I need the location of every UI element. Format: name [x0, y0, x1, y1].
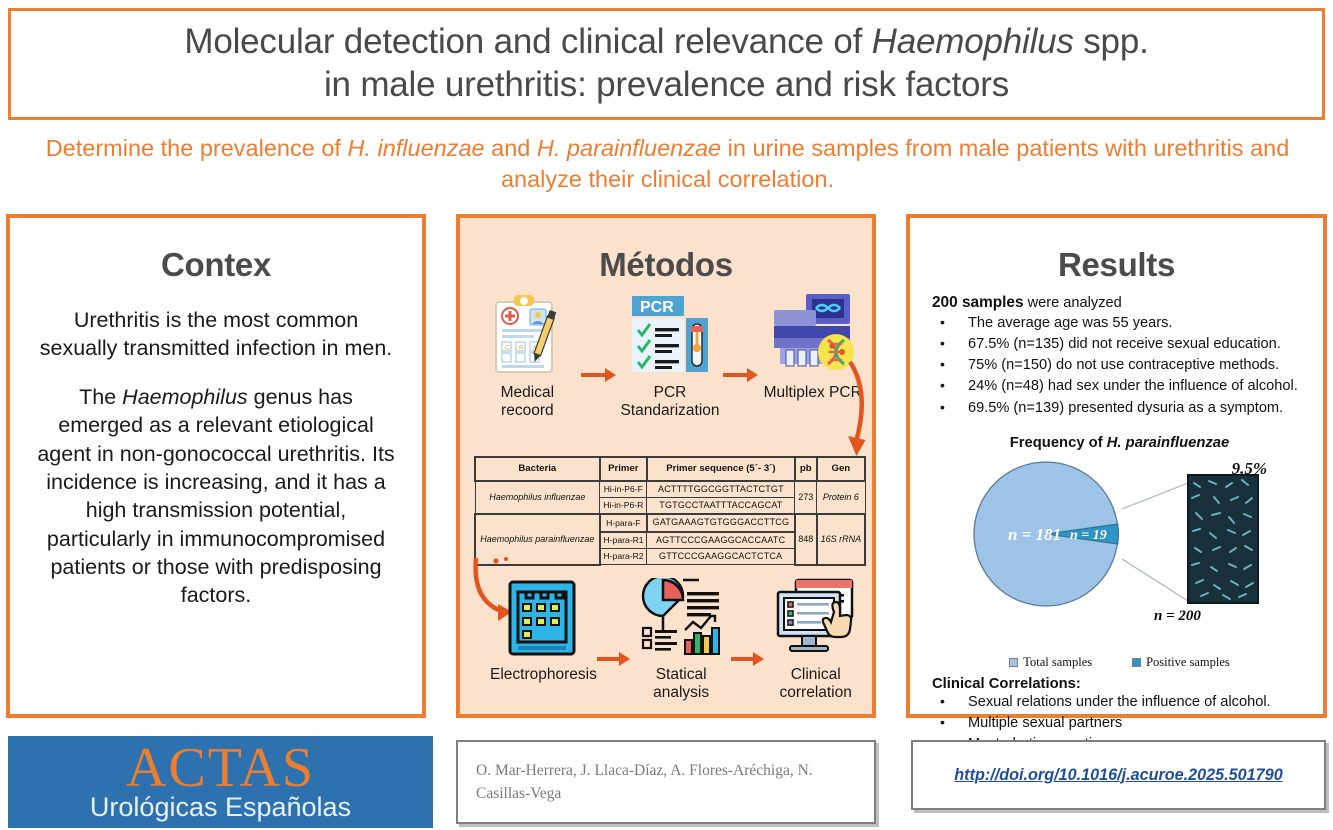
- svg-text:PCR: PCR: [640, 299, 674, 316]
- svg-text:C: C: [505, 346, 510, 352]
- cell-gen-16s: 16S rRNA: [817, 514, 865, 564]
- legend-swatch-positive: [1132, 658, 1141, 667]
- poster-root: Molecular detection and clinical relevan…: [0, 0, 1333, 830]
- arrow-2-icon: [723, 367, 759, 383]
- cell-sequence: AGTTCCCGAAGGCACCAATC: [647, 532, 795, 549]
- contex-p2-b: genus has emerged as a relevant etiologi…: [37, 385, 394, 608]
- pie-chart-legend: Total samples Positive samples: [932, 655, 1307, 670]
- metodos-panel: Métodos: [456, 214, 876, 718]
- pie-total-label: n = 200: [1154, 608, 1201, 625]
- title-box: Molecular detection and clinical relevan…: [8, 8, 1325, 120]
- step-electrophoresis: Electrophoresis: [490, 578, 597, 684]
- list-item: 67.5% (n=135) did not receive sexual edu…: [932, 334, 1307, 355]
- table-row: Haemophilus parainfluenzae H-para-F GATG…: [475, 514, 865, 531]
- list-item: Sexual relations under the influence of …: [932, 692, 1307, 713]
- cell-sequence: GATGAAAGTGTGGGACCTTCG: [647, 514, 795, 531]
- arrow-1-icon: [581, 367, 617, 383]
- primer-table-header-row: Bacteria Primer Primer sequence (5´- 3´)…: [475, 457, 865, 481]
- results-body: 200 samples were analyzed The average ag…: [910, 284, 1323, 755]
- results-heading: Results: [910, 246, 1323, 284]
- step-clinical-correlation-caption: Clinicalcorrelation: [780, 666, 852, 703]
- list-item: 75% (n=150) do not use contraceptive met…: [932, 355, 1307, 376]
- list-item: Multiple sexual partners: [932, 713, 1307, 734]
- callout-line-top: [1122, 483, 1188, 509]
- objective-statement: Determine the prevalence of H. influenza…: [40, 133, 1295, 196]
- primer-table: Bacteria Primer Primer sequence (5´- 3´)…: [474, 456, 866, 566]
- cell-primer: Hi-in-P6-R: [600, 498, 647, 515]
- th-gen: Gen: [817, 457, 865, 481]
- arrow-4-icon: [731, 651, 765, 667]
- bacilli-micrograph: [1188, 475, 1258, 603]
- title-line1-part-a: Molecular detection and clinical relevan…: [184, 22, 871, 61]
- legend-label-positive: Positive samples: [1146, 655, 1230, 669]
- th-sequence: Primer sequence (5´- 3´): [647, 457, 795, 481]
- callout-line-bottom: [1122, 559, 1188, 601]
- electrophoresis-gel-icon: [504, 578, 582, 660]
- pie-chart-svg: n = 181 n = 19: [926, 453, 1315, 635]
- cell-sequence: GTTCCCGAAGGCACTCTCA: [647, 548, 795, 564]
- cell-pb-273: 273: [795, 481, 817, 515]
- cell-sequence: ACTTTTGGCGGTTACTCTGT: [647, 481, 795, 498]
- pie-total-label-text: n = 200: [1154, 608, 1201, 624]
- pie-label-positive: n = 19: [1070, 528, 1107, 543]
- results-panel: Results 200 samples were analyzed The av…: [906, 214, 1327, 718]
- results-lead-rest: were analyzed: [1024, 295, 1122, 311]
- contex-p2-genus: Haemophilus: [122, 385, 247, 409]
- clipboard-medical-record-icon: C R A: [490, 292, 564, 378]
- objective-species-2: H. parainfluenzae: [537, 135, 721, 161]
- metodos-heading: Métodos: [460, 246, 872, 284]
- pie-callout-percent: 9.5%: [1232, 459, 1267, 479]
- metodos-workflow-top: C R A Medicalrecoord: [474, 292, 866, 421]
- contex-p2-a: The: [79, 385, 122, 409]
- pcr-checklist-icon: PCR: [628, 292, 712, 378]
- legend-label-total: Total samples: [1023, 655, 1092, 669]
- objective-species-1: H. influenzae: [347, 135, 484, 161]
- clinical-correlations-heading: Clinical Correlations:: [932, 676, 1307, 692]
- pie-chart-title-a: Frequency of: [1010, 435, 1107, 451]
- contex-heading: Contex: [10, 246, 422, 284]
- authors-box: O. Mar-Herrera, J. Llaca-Díaz, A. Flores…: [456, 740, 876, 824]
- legend-item-total: Total samples: [1009, 655, 1092, 670]
- authors-list: O. Mar-Herrera, J. Llaca-Díaz, A. Flores…: [476, 759, 856, 806]
- cell-primer: H-para-F: [600, 514, 647, 531]
- step-statistical-analysis: Statical analysis: [631, 578, 732, 703]
- page-title: Molecular detection and clinical relevan…: [172, 21, 1160, 106]
- results-lead: 200 samples were analyzed: [932, 294, 1307, 312]
- th-bacteria: Bacteria: [475, 457, 600, 481]
- title-line1-part-b: spp.: [1074, 22, 1149, 61]
- legend-swatch-total: [1009, 658, 1018, 667]
- doi-box: http://doi.org/10.1016/j.acuroe.2025.501…: [911, 740, 1326, 810]
- objective-part-1: Determine the prevalence of: [46, 135, 348, 161]
- title-genus-italic: Haemophilus: [872, 22, 1074, 61]
- cell-bacteria-hi: Haemophilus influenzae: [475, 481, 600, 515]
- contex-body: Urethritis is the most common sexually t…: [10, 284, 422, 610]
- results-sample-count: 200 samples: [932, 294, 1024, 311]
- logo-subtitle-text: Urológicas Españolas: [90, 794, 351, 821]
- title-line2: in male urethritis: prevalence and risk …: [324, 65, 1009, 104]
- contex-paragraph-1: Urethritis is the most common sexually t…: [36, 306, 396, 363]
- monitor-clinical-icon: [774, 578, 858, 660]
- arrow-3-icon: [597, 651, 631, 667]
- metodos-workflow-bottom: Electrophoresis: [490, 578, 866, 703]
- step-clinical-correlation: Clinicalcorrelation: [765, 578, 866, 703]
- svg-text:R: R: [519, 346, 524, 352]
- pie-chart-title-species: H. parainfluenzae: [1107, 435, 1230, 451]
- contex-panel: Contex Urethritis is the most common sex…: [6, 214, 426, 718]
- primer-table-wrapper: Bacteria Primer Primer sequence (5´- 3´)…: [474, 456, 866, 566]
- list-item: 24% (n=48) had sex under the influence o…: [932, 376, 1307, 397]
- list-item: 69.5% (n=139) presented dysuria as a sym…: [932, 398, 1307, 419]
- step-medical-record-caption: Medicalrecoord: [501, 384, 554, 421]
- actas-logo: ACTAS Urológicas Españolas: [8, 736, 433, 828]
- step-electrophoresis-caption: Electrophoresis: [490, 666, 597, 684]
- step-pcr-standardization-caption: PCRStandarization: [620, 384, 719, 421]
- step-statistical-analysis-caption: Statical analysis: [631, 666, 732, 703]
- list-item: The average age was 55 years.: [932, 313, 1307, 334]
- cell-primer: Hi-in-P6-F: [600, 481, 647, 498]
- th-pb: pb: [795, 457, 817, 481]
- pie-label-total: n = 181: [1008, 525, 1061, 544]
- step-pcr-standardization: PCR PCRStandarization: [617, 292, 724, 421]
- results-bullet-list: The average age was 55 years. 67.5% (n=1…: [932, 313, 1307, 419]
- cell-gen-protein6: Protein 6: [817, 481, 865, 515]
- pie-chart: n = 181 n = 19: [932, 453, 1307, 653]
- logo-actas-text: ACTAS: [126, 743, 315, 795]
- cell-primer: H-para-R2: [600, 548, 647, 564]
- cell-sequence: TGTGCCTAATTTACCAGCAT: [647, 498, 795, 515]
- table-row: Haemophilus influenzae Hi-in-P6-F ACTTTT…: [475, 481, 865, 498]
- doi-link[interactable]: http://doi.org/10.1016/j.acuroe.2025.501…: [954, 766, 1282, 785]
- th-primer: Primer: [600, 457, 647, 481]
- cell-primer: H-para-R1: [600, 532, 647, 549]
- objective-part-2: and: [485, 135, 537, 161]
- cell-pb-848: 848: [795, 514, 817, 564]
- step-medical-record: C R A Medicalrecoord: [474, 292, 581, 421]
- statistics-charts-icon: [637, 578, 725, 660]
- contex-paragraph-2: The Haemophilus genus has emerged as a r…: [36, 383, 396, 610]
- pie-chart-title: Frequency of H. parainfluenzae: [932, 435, 1307, 451]
- curved-arrow-down-icon: [820, 340, 880, 466]
- legend-item-positive: Positive samples: [1132, 655, 1230, 670]
